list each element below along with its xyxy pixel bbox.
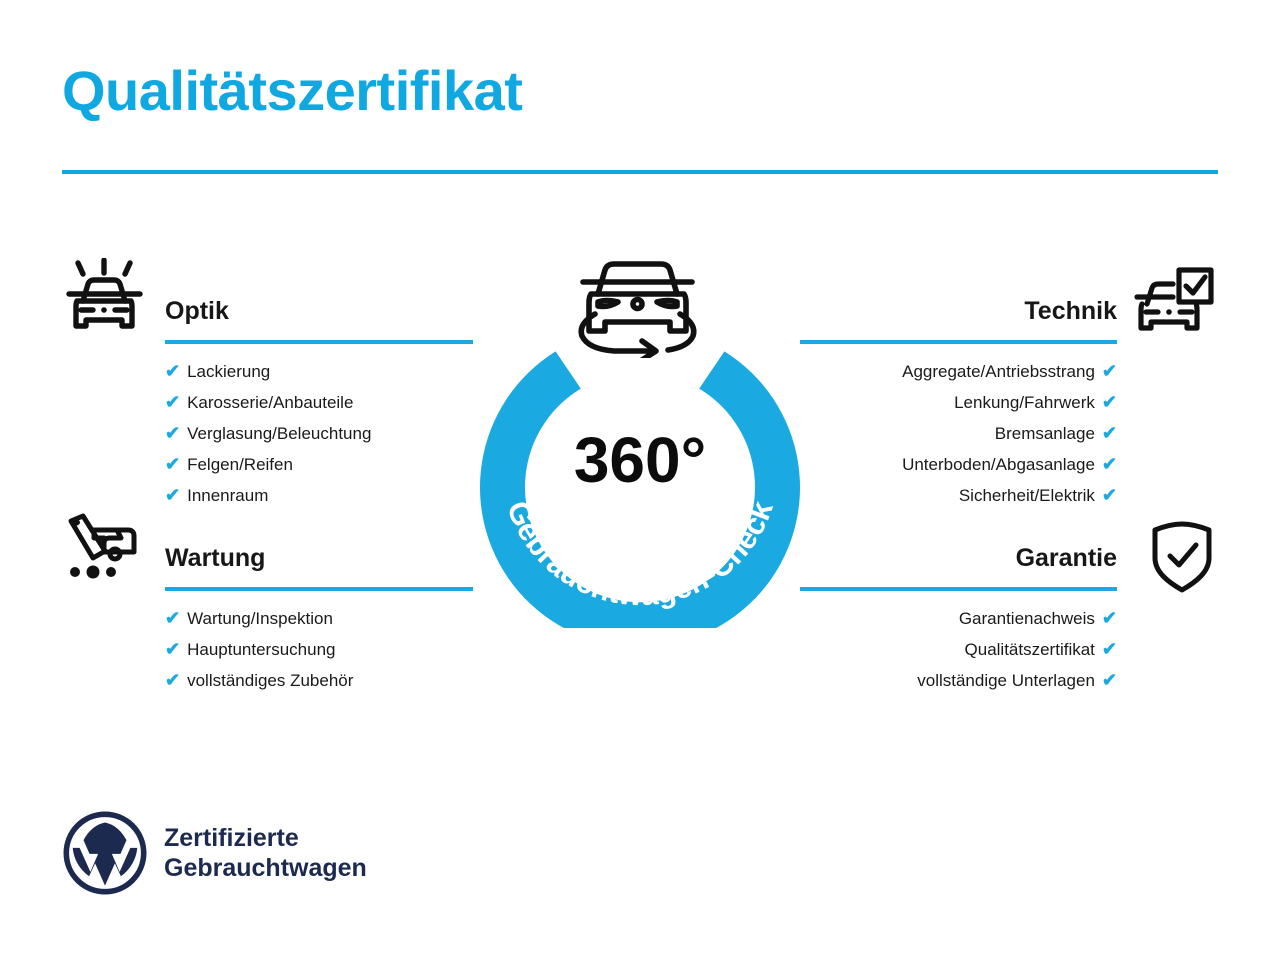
list-item-label: Aggregate/Antriebsstrang: [902, 357, 1095, 387]
list-item: Aggregate/Antriebsstrang✔: [800, 356, 1117, 387]
list-item-label: vollständiges Zubehör: [187, 666, 353, 696]
check-icon: ✔: [1102, 603, 1117, 633]
check-icon: ✔: [165, 665, 180, 695]
list-item: ✔Innenraum: [165, 480, 473, 511]
badge-degrees-label: 360°: [455, 423, 825, 497]
checklist-wartung: ✔Wartung/Inspektion ✔Hauptuntersuchung ✔…: [165, 603, 473, 696]
badge-360-gebrauchtwagen-check: Gebrauchtwagen-Check 360°: [455, 248, 825, 628]
check-icon: ✔: [165, 449, 180, 479]
list-item-label: Hauptuntersuchung: [187, 635, 335, 665]
page-title: Qualitätszertifikat: [62, 58, 522, 123]
list-item-label: Verglasung/Beleuchtung: [187, 419, 371, 449]
list-item: ✔Felgen/Reifen: [165, 449, 473, 480]
section-header-technik: Technik: [800, 296, 1117, 344]
checklist-garantie: Garantienachweis✔ Qualitätszertifikat✔ v…: [800, 603, 1117, 696]
list-item-label: Karosserie/Anbauteile: [187, 388, 353, 418]
section-divider-optik: [165, 340, 473, 344]
list-item: Unterboden/Abgasanlage✔: [800, 449, 1117, 480]
check-icon: ✔: [165, 480, 180, 510]
list-item-label: Unterboden/Abgasanlage: [902, 450, 1095, 480]
car-front-rotate-icon: [550, 248, 725, 358]
service-pen-car-icon: [58, 508, 142, 592]
list-item: ✔Verglasung/Beleuchtung: [165, 418, 473, 449]
section-divider-garantie: [800, 587, 1117, 591]
section-title-wartung: Wartung: [165, 543, 473, 573]
check-icon: ✔: [165, 387, 180, 417]
section-header-wartung: Wartung: [165, 543, 473, 591]
check-icon: ✔: [165, 418, 180, 448]
list-item-label: Wartung/Inspektion: [187, 604, 333, 634]
list-item: vollständige Unterlagen✔: [800, 665, 1117, 696]
list-item-label: Sicherheit/Elektrik: [959, 481, 1095, 511]
list-item-label: vollständige Unterlagen: [917, 666, 1095, 696]
car-checkbox-icon: [1133, 264, 1217, 348]
section-divider-technik: [800, 340, 1117, 344]
list-item: Sicherheit/Elektrik✔: [800, 480, 1117, 511]
vw-certified-lockup: Zertifizierte Gebrauchtwagen: [62, 810, 367, 896]
title-divider: [62, 170, 1218, 174]
checklist-technik: Aggregate/Antriebsstrang✔ Lenkung/Fahrwe…: [800, 356, 1117, 511]
list-item-label: Lackierung: [187, 357, 270, 387]
check-icon: ✔: [1102, 480, 1117, 510]
list-item: ✔Lackierung: [165, 356, 473, 387]
section-title-technik: Technik: [800, 296, 1117, 326]
list-item-label: Garantienachweis: [959, 604, 1095, 634]
section-title-optik: Optik: [165, 296, 473, 326]
section-divider-wartung: [165, 587, 473, 591]
check-icon: ✔: [1102, 418, 1117, 448]
list-item-label: Qualitätszertifikat: [965, 635, 1095, 665]
check-icon: ✔: [1102, 356, 1117, 386]
list-item: ✔vollständiges Zubehör: [165, 665, 473, 696]
shield-check-icon: [1140, 514, 1224, 598]
section-title-garantie: Garantie: [800, 543, 1117, 573]
vw-logo: [62, 810, 148, 896]
section-garantie: Garantie Garantienachweis✔ Qualitätszert…: [800, 543, 1117, 696]
check-icon: ✔: [165, 356, 180, 386]
list-item: ✔Karosserie/Anbauteile: [165, 387, 473, 418]
footer-text: Zertifizierte Gebrauchtwagen: [164, 823, 367, 883]
check-icon: ✔: [165, 603, 180, 633]
check-icon: ✔: [1102, 449, 1117, 479]
section-header-optik: Optik: [165, 296, 473, 344]
section-technik: Technik Aggregate/Antriebsstrang✔ Lenkun…: [800, 296, 1117, 511]
section-wartung: Wartung ✔Wartung/Inspektion ✔Hauptunters…: [165, 543, 473, 696]
list-item: Qualitätszertifikat✔: [800, 634, 1117, 665]
list-item: Garantienachweis✔: [800, 603, 1117, 634]
list-item: Bremsanlage✔: [800, 418, 1117, 449]
checklist-optik: ✔Lackierung ✔Karosserie/Anbauteile ✔Verg…: [165, 356, 473, 511]
list-item-label: Felgen/Reifen: [187, 450, 293, 480]
section-header-garantie: Garantie: [800, 543, 1117, 591]
list-item: Lenkung/Fahrwerk✔: [800, 387, 1117, 418]
list-item: ✔Hauptuntersuchung: [165, 634, 473, 665]
list-item-label: Bremsanlage: [995, 419, 1095, 449]
list-item-label: Lenkung/Fahrwerk: [954, 388, 1095, 418]
check-icon: ✔: [165, 634, 180, 664]
list-item: ✔Wartung/Inspektion: [165, 603, 473, 634]
list-item-label: Innenraum: [187, 481, 268, 511]
check-icon: ✔: [1102, 634, 1117, 664]
car-front-lights-icon: [62, 258, 146, 342]
section-optik: Optik ✔Lackierung ✔Karosserie/Anbauteile…: [165, 296, 473, 511]
check-icon: ✔: [1102, 665, 1117, 695]
check-icon: ✔: [1102, 387, 1117, 417]
